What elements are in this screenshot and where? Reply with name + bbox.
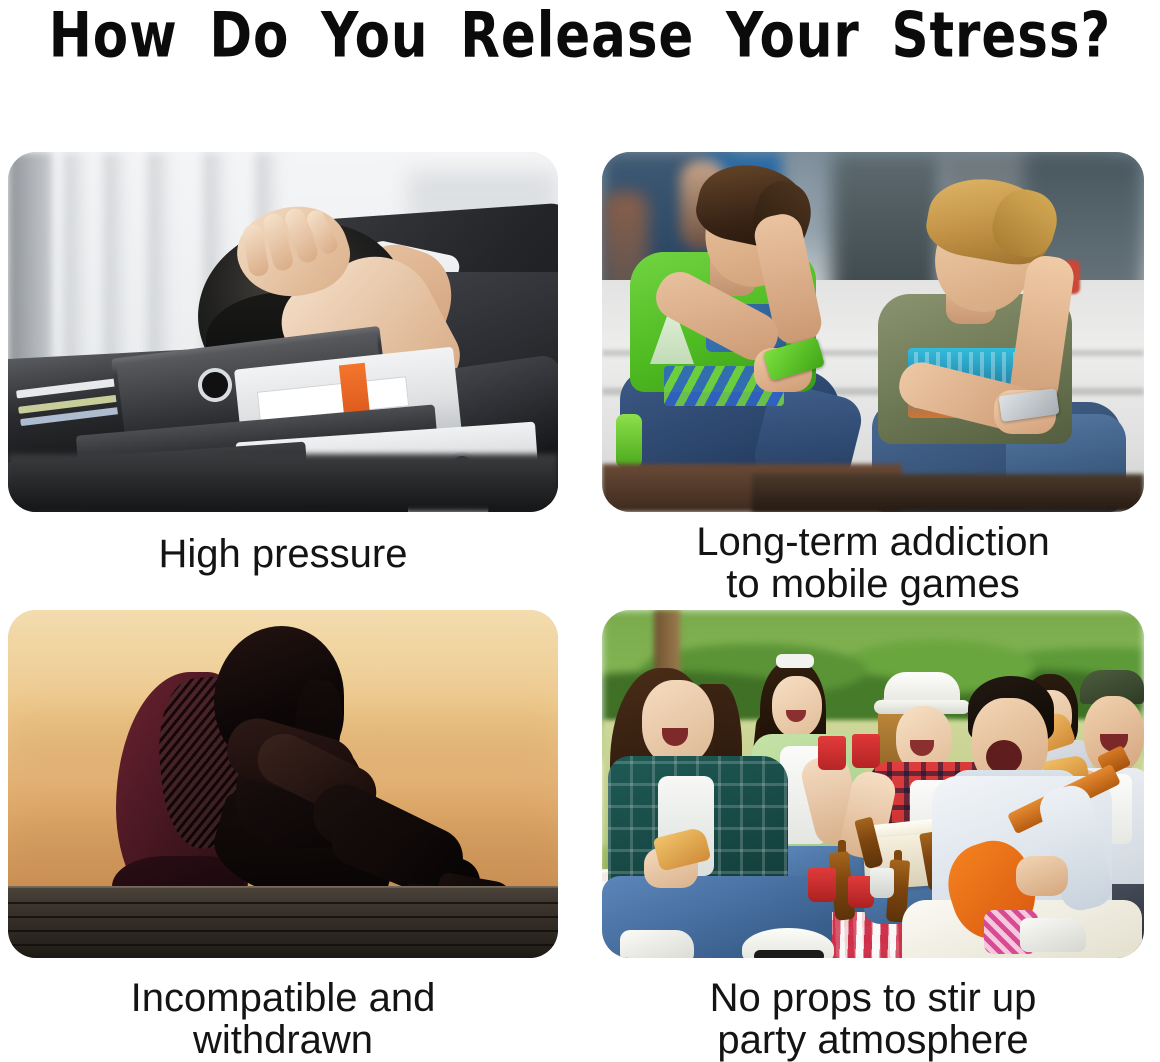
red-party-cup	[808, 868, 836, 902]
caption-withdrawn: Incompatible and withdrawn	[8, 977, 558, 1061]
photo-withdrawn	[8, 610, 558, 958]
guitar-man-hand	[1016, 856, 1068, 896]
bench-seat	[752, 474, 1144, 512]
caption-line: Incompatible and	[8, 977, 558, 1019]
left-boy-green-pouch	[616, 414, 642, 468]
white-sneaker	[1020, 918, 1086, 952]
caption-line: to mobile games	[602, 563, 1144, 605]
photo-high-pressure	[8, 152, 558, 512]
photo-party	[602, 610, 1144, 958]
wooden-dock	[8, 888, 558, 958]
red-party-cup	[818, 736, 846, 770]
white-sneaker	[620, 930, 694, 958]
hat-band	[754, 950, 824, 958]
plank-line	[8, 902, 558, 904]
white-party-cup	[870, 868, 894, 898]
hair-clip	[776, 654, 814, 668]
caption-party: No props to stir up party atmosphere	[602, 977, 1144, 1061]
plank-line	[8, 930, 558, 932]
desk-surface	[8, 454, 558, 512]
caption-line: withdrawn	[8, 1019, 558, 1061]
page-title: How Do You Release Your Stress?	[46, 0, 1113, 74]
caption-line: High pressure	[8, 533, 558, 575]
caption-line: party atmosphere	[602, 1019, 1144, 1061]
singing-mouth	[986, 740, 1022, 774]
caption-high-pressure: High pressure	[8, 533, 558, 575]
caption-line: Long-term addiction	[602, 521, 1144, 563]
red-party-cup	[852, 734, 880, 768]
plank-line	[8, 916, 558, 918]
plank-line	[8, 944, 558, 946]
photo-mobile-games	[602, 152, 1144, 512]
caption-line: No props to stir up	[602, 977, 1144, 1019]
caption-mobile-games: Long-term addiction to mobile games	[602, 521, 1144, 605]
front-girl-face	[642, 680, 714, 766]
ponytail-girl-face	[772, 676, 822, 738]
